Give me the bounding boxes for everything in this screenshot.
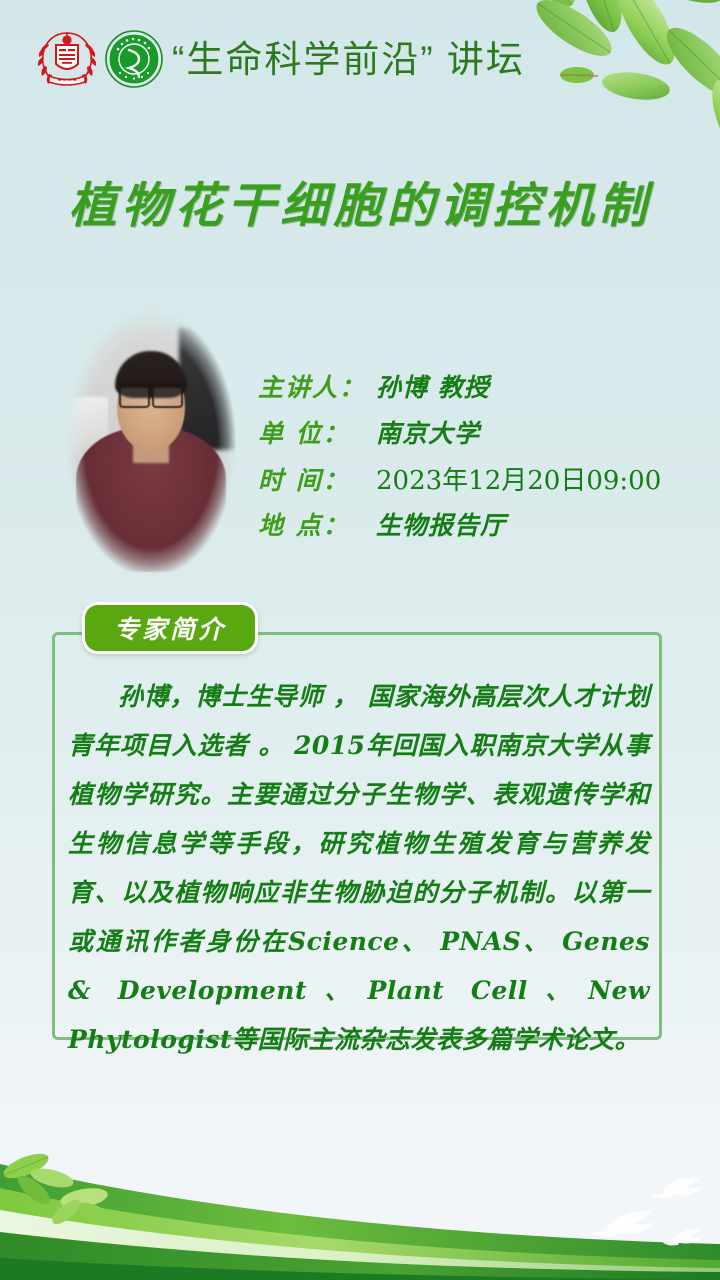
speaker-portrait (62, 305, 240, 583)
white-doves-icon (590, 1177, 703, 1245)
info-value-speaker: 孙博 教授 (376, 368, 490, 404)
info-row-venue: 地 点： 生物报告厅 (258, 506, 678, 552)
green-wave-ribbon-icon (0, 1140, 720, 1280)
info-label-speaker: 主讲人： (258, 368, 376, 404)
info-value-venue: 生物报告厅 (376, 506, 506, 542)
info-label-affiliation: 单 位： (258, 414, 376, 450)
info-row-speaker: 主讲人： 孙博 教授 (258, 368, 678, 414)
info-label-venue: 地 点： (258, 506, 376, 542)
bio-badge-label: 专家简介 (114, 610, 226, 646)
info-value-affiliation: 南京大学 (376, 414, 480, 450)
speaker-portrait-oval (62, 305, 240, 583)
single-floating-leaf-icon (558, 64, 600, 86)
info-row-affiliation: 单 位： 南京大学 (258, 414, 678, 460)
green-leaves-bottom-left-icon (0, 1149, 117, 1230)
info-label-time: 时 间： (258, 461, 376, 497)
info-value-time: 2023年12月20日09:00 (376, 460, 661, 497)
poster-header-title: “生命科学前沿” 讲坛 (172, 41, 525, 78)
page-title: 植物花干细胞的调控机制 (0, 180, 720, 233)
poster-root: “生命科学前沿” 讲坛 植物花干细胞的调控机制 主讲人： 孙博 教授 单 位： … (0, 0, 720, 1280)
bio-text: 孙博，博士生导师 ， 国家海外高层次人才计划青年项目入选者 。 2015年回国入… (68, 672, 650, 1064)
hunan-normal-university-emblem-icon (34, 28, 100, 90)
status-badge: 专家简介 (82, 602, 258, 654)
event-info-block: 主讲人： 孙博 教授 单 位： 南京大学 时 间： 2023年12月20日09:… (258, 368, 678, 552)
info-row-time: 时 间： 2023年12月20日09:00 (258, 460, 678, 506)
life-science-college-seal-icon (104, 29, 164, 89)
poster-header: “生命科学前沿” 讲坛 (34, 26, 525, 92)
